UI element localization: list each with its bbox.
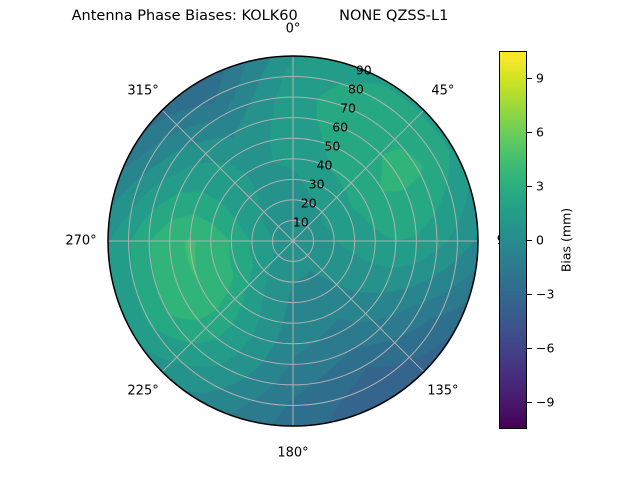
polar-angle-label-135: 135° bbox=[427, 383, 458, 398]
colorbar-tick bbox=[527, 348, 532, 349]
polar-angle-label-0: 0° bbox=[286, 22, 301, 37]
colorbar: 9630−3−6−9 bbox=[499, 51, 527, 429]
colorbar-tick bbox=[527, 78, 532, 79]
polar-radial-label-30: 30 bbox=[309, 177, 325, 192]
polar-radial-label-50: 50 bbox=[324, 139, 340, 154]
colorbar-axis-label: Bias (mm) bbox=[559, 208, 574, 272]
polar-heatmap-canvas bbox=[106, 54, 480, 428]
polar-radial-label-70: 70 bbox=[340, 101, 356, 116]
polar-radial-label-90: 90 bbox=[356, 63, 372, 78]
colorbar-tick-label: 9 bbox=[536, 71, 544, 86]
colorbar-tick-label: 3 bbox=[536, 179, 544, 194]
polar-radial-label-80: 80 bbox=[348, 82, 364, 97]
polar-radial-label-40: 40 bbox=[317, 158, 333, 173]
polar-angle-label-225: 225° bbox=[127, 383, 158, 398]
polar-plot-axes: 0°45°90135°180°225°270°315°1020304050607… bbox=[106, 54, 480, 428]
colorbar-tick-label: −9 bbox=[536, 395, 554, 410]
figure-canvas: Antenna Phase Biases: KOLK60 NONE QZSS-L… bbox=[0, 0, 640, 480]
polar-angle-label-180: 180° bbox=[277, 446, 308, 461]
polar-radial-label-10: 10 bbox=[293, 215, 309, 230]
polar-angle-label-315: 315° bbox=[127, 84, 158, 99]
colorbar-tick-label: −6 bbox=[536, 341, 554, 356]
colorbar-tick bbox=[527, 132, 532, 133]
chart-title: Antenna Phase Biases: KOLK60 NONE QZSS-L… bbox=[0, 8, 520, 24]
colorbar-gradient bbox=[499, 51, 527, 429]
colorbar-tick bbox=[527, 294, 532, 295]
colorbar-tick-label: −3 bbox=[536, 287, 554, 302]
colorbar-tick bbox=[527, 240, 532, 241]
polar-angle-label-45: 45° bbox=[431, 84, 454, 99]
colorbar-tick-label: 0 bbox=[536, 233, 544, 248]
polar-radial-label-60: 60 bbox=[332, 120, 348, 135]
colorbar-tick bbox=[527, 186, 532, 187]
colorbar-tick-label: 6 bbox=[536, 125, 544, 140]
polar-angle-label-270: 270° bbox=[65, 234, 96, 249]
polar-radial-label-20: 20 bbox=[301, 196, 317, 211]
colorbar-tick bbox=[527, 402, 532, 403]
